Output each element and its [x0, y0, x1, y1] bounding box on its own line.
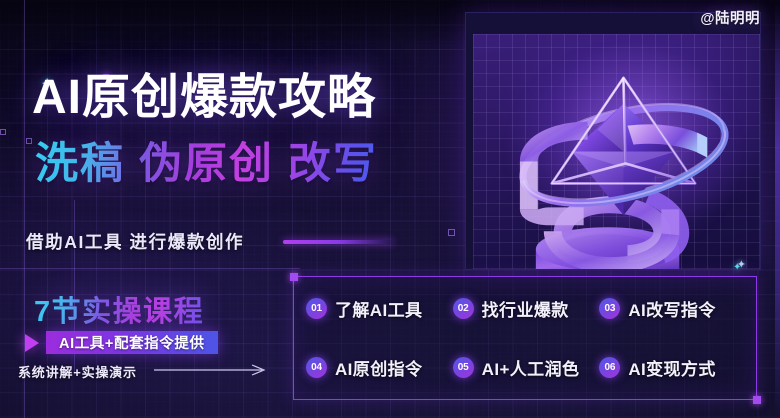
- course-number: 05: [453, 357, 474, 378]
- decor-square-outline: [0, 129, 6, 135]
- course-item[interactable]: 04 AI原创指令: [306, 355, 453, 380]
- course-label: AI变现方式: [628, 355, 715, 380]
- page-title: AI原创爆款攻略: [32, 74, 376, 122]
- offer-badge: AI工具+配套指令提供: [46, 331, 218, 354]
- course-grid: 01 了解AI工具 02 找行业爆款 03 AI改写指令 04 AI原创指令 0…: [294, 277, 756, 399]
- course-item[interactable]: 03 AI改写指令: [599, 296, 746, 321]
- course-item[interactable]: 05 AI+人工润色: [453, 355, 600, 380]
- play-icon: [25, 334, 39, 352]
- course-list-box: 01 了解AI工具 02 找行业爆款 03 AI改写指令 04 AI原创指令 0…: [293, 276, 757, 400]
- course-number: 04: [306, 357, 327, 378]
- arrow-right-icon: [152, 362, 270, 378]
- course-label: 了解AI工具: [335, 296, 422, 321]
- course-number: 06: [599, 357, 620, 378]
- right-edge-glow: [775, 0, 780, 418]
- course-number: 02: [453, 298, 474, 319]
- course-label: AI改写指令: [628, 296, 715, 321]
- author-handle: @陆明明: [700, 7, 760, 28]
- guide-line-horizontal: [0, 268, 300, 269]
- hero-image-inner: ✦: [473, 34, 761, 270]
- lesson-count-text: 7节实操课程: [34, 288, 204, 330]
- course-item[interactable]: 06 AI变现方式: [599, 355, 746, 380]
- offer-badge-row: AI工具+配套指令提供: [25, 331, 218, 354]
- tagline-text: 借助AI工具 进行爆款创作: [26, 229, 244, 254]
- guide-line-left: [24, 0, 25, 418]
- pyramid-3d-render: [473, 34, 761, 270]
- course-number: 01: [306, 298, 327, 319]
- promo-poster: ✛ ✦ @陆明明: [0, 0, 780, 418]
- course-label: AI原创指令: [335, 355, 422, 380]
- course-label: 找行业爆款: [482, 296, 569, 321]
- hero-image-frame: ✦: [465, 12, 761, 270]
- course-item[interactable]: 02 找行业爆款: [453, 296, 600, 321]
- course-number: 03: [599, 298, 620, 319]
- course-item[interactable]: 01 了解AI工具: [306, 296, 453, 321]
- decor-square-outline: [448, 229, 455, 236]
- page-subtitle: 洗稿 伪原创 改写: [35, 140, 378, 188]
- course-label: AI+人工润色: [482, 355, 580, 380]
- tagline-underline: [283, 240, 393, 244]
- sparkle-icon: ✦: [733, 262, 741, 273]
- footnote-text: 系统讲解+实操演示: [18, 362, 137, 381]
- decor-square-outline: [26, 138, 32, 144]
